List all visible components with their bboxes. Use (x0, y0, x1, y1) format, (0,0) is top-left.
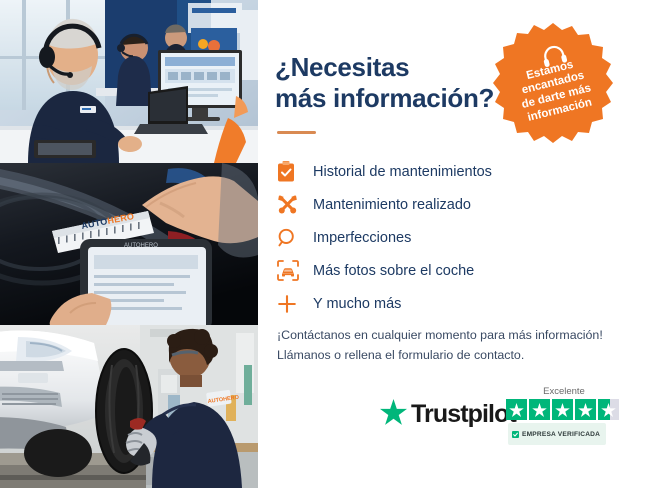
verified-company-label: EMPRESA VERIFICADA (522, 431, 600, 438)
svg-text:AUTOHERO: AUTOHERO (124, 243, 158, 249)
trustpilot-rating-label: Excelente (508, 386, 620, 397)
feature-label: Imperfecciones (307, 230, 411, 246)
trustpilot-star-3 (552, 399, 573, 420)
trustpilot-wordmark: Trustpilot (411, 400, 516, 429)
trustpilot-star-1 (506, 399, 527, 420)
page-title-line-2: más información? (275, 83, 515, 114)
verified-check-icon (512, 425, 519, 443)
car-photo-frame-icon (277, 258, 307, 284)
plus-icon (277, 291, 307, 317)
contact-text: ¡Contáctanos en cualquier momento para m… (277, 325, 637, 365)
photo-column: AUTO HERO AUTOHERO (0, 0, 258, 488)
promo-card: AUTO HERO AUTOHERO (0, 0, 650, 488)
clipboard-check-icon (277, 159, 307, 185)
starburst-shape (491, 21, 615, 145)
trustpilot-logo[interactable]: Trustpilot (380, 399, 516, 430)
trustpilot-star-2 (529, 399, 550, 420)
trustpilot-star-5 (598, 399, 619, 420)
feature-item-imperfections: Imperfecciones (277, 221, 607, 254)
verified-company-badge: EMPRESA VERIFICADA (508, 423, 606, 445)
contact-line-1: ¡Contáctanos en cualquier momento para m… (277, 325, 637, 345)
contact-line-2: Llámanos o rellena el formulario de cont… (277, 345, 637, 365)
feature-item-maintenance-done: Mantenimiento realizado (277, 188, 607, 221)
trustpilot-block[interactable]: Trustpilot Excelente (380, 386, 640, 448)
feature-label: Más fotos sobre el coche (307, 263, 474, 279)
car-inspection-ruler-photo: AUTO HERO AUTOHERO (0, 163, 258, 325)
feature-item-much-more: Y mucho más (277, 287, 607, 320)
trustpilot-rating: Excelente (506, 386, 640, 445)
mechanic-tire-inspection-photo: AUTOHERO (0, 325, 258, 488)
feature-label: Mantenimiento realizado (307, 197, 471, 213)
trustpilot-star-icon (380, 399, 407, 430)
call-center-agents-photo (0, 0, 258, 163)
promo-badge: Estamos encantados de darte más informac… (491, 21, 615, 145)
page-title: ¿Necesitas más información? (275, 52, 515, 114)
feature-item-maintenance-history: Historial de mantenimientos (277, 155, 607, 188)
page-title-line-1: ¿Necesitas (275, 52, 515, 83)
content-panel: ¿Necesitas más información? Estamos enca… (258, 0, 650, 488)
feature-item-more-photos: Más fotos sobre el coche (277, 254, 607, 287)
feature-label: Y mucho más (307, 296, 401, 312)
trustpilot-star-4 (575, 399, 596, 420)
wrench-screwdriver-icon (277, 192, 307, 218)
magnifier-icon (277, 225, 307, 251)
trustpilot-stars (506, 399, 640, 420)
feature-list: Historial de mantenimientos Mantenimient… (277, 155, 607, 320)
title-divider (277, 131, 316, 134)
feature-label: Historial de mantenimientos (307, 164, 492, 180)
